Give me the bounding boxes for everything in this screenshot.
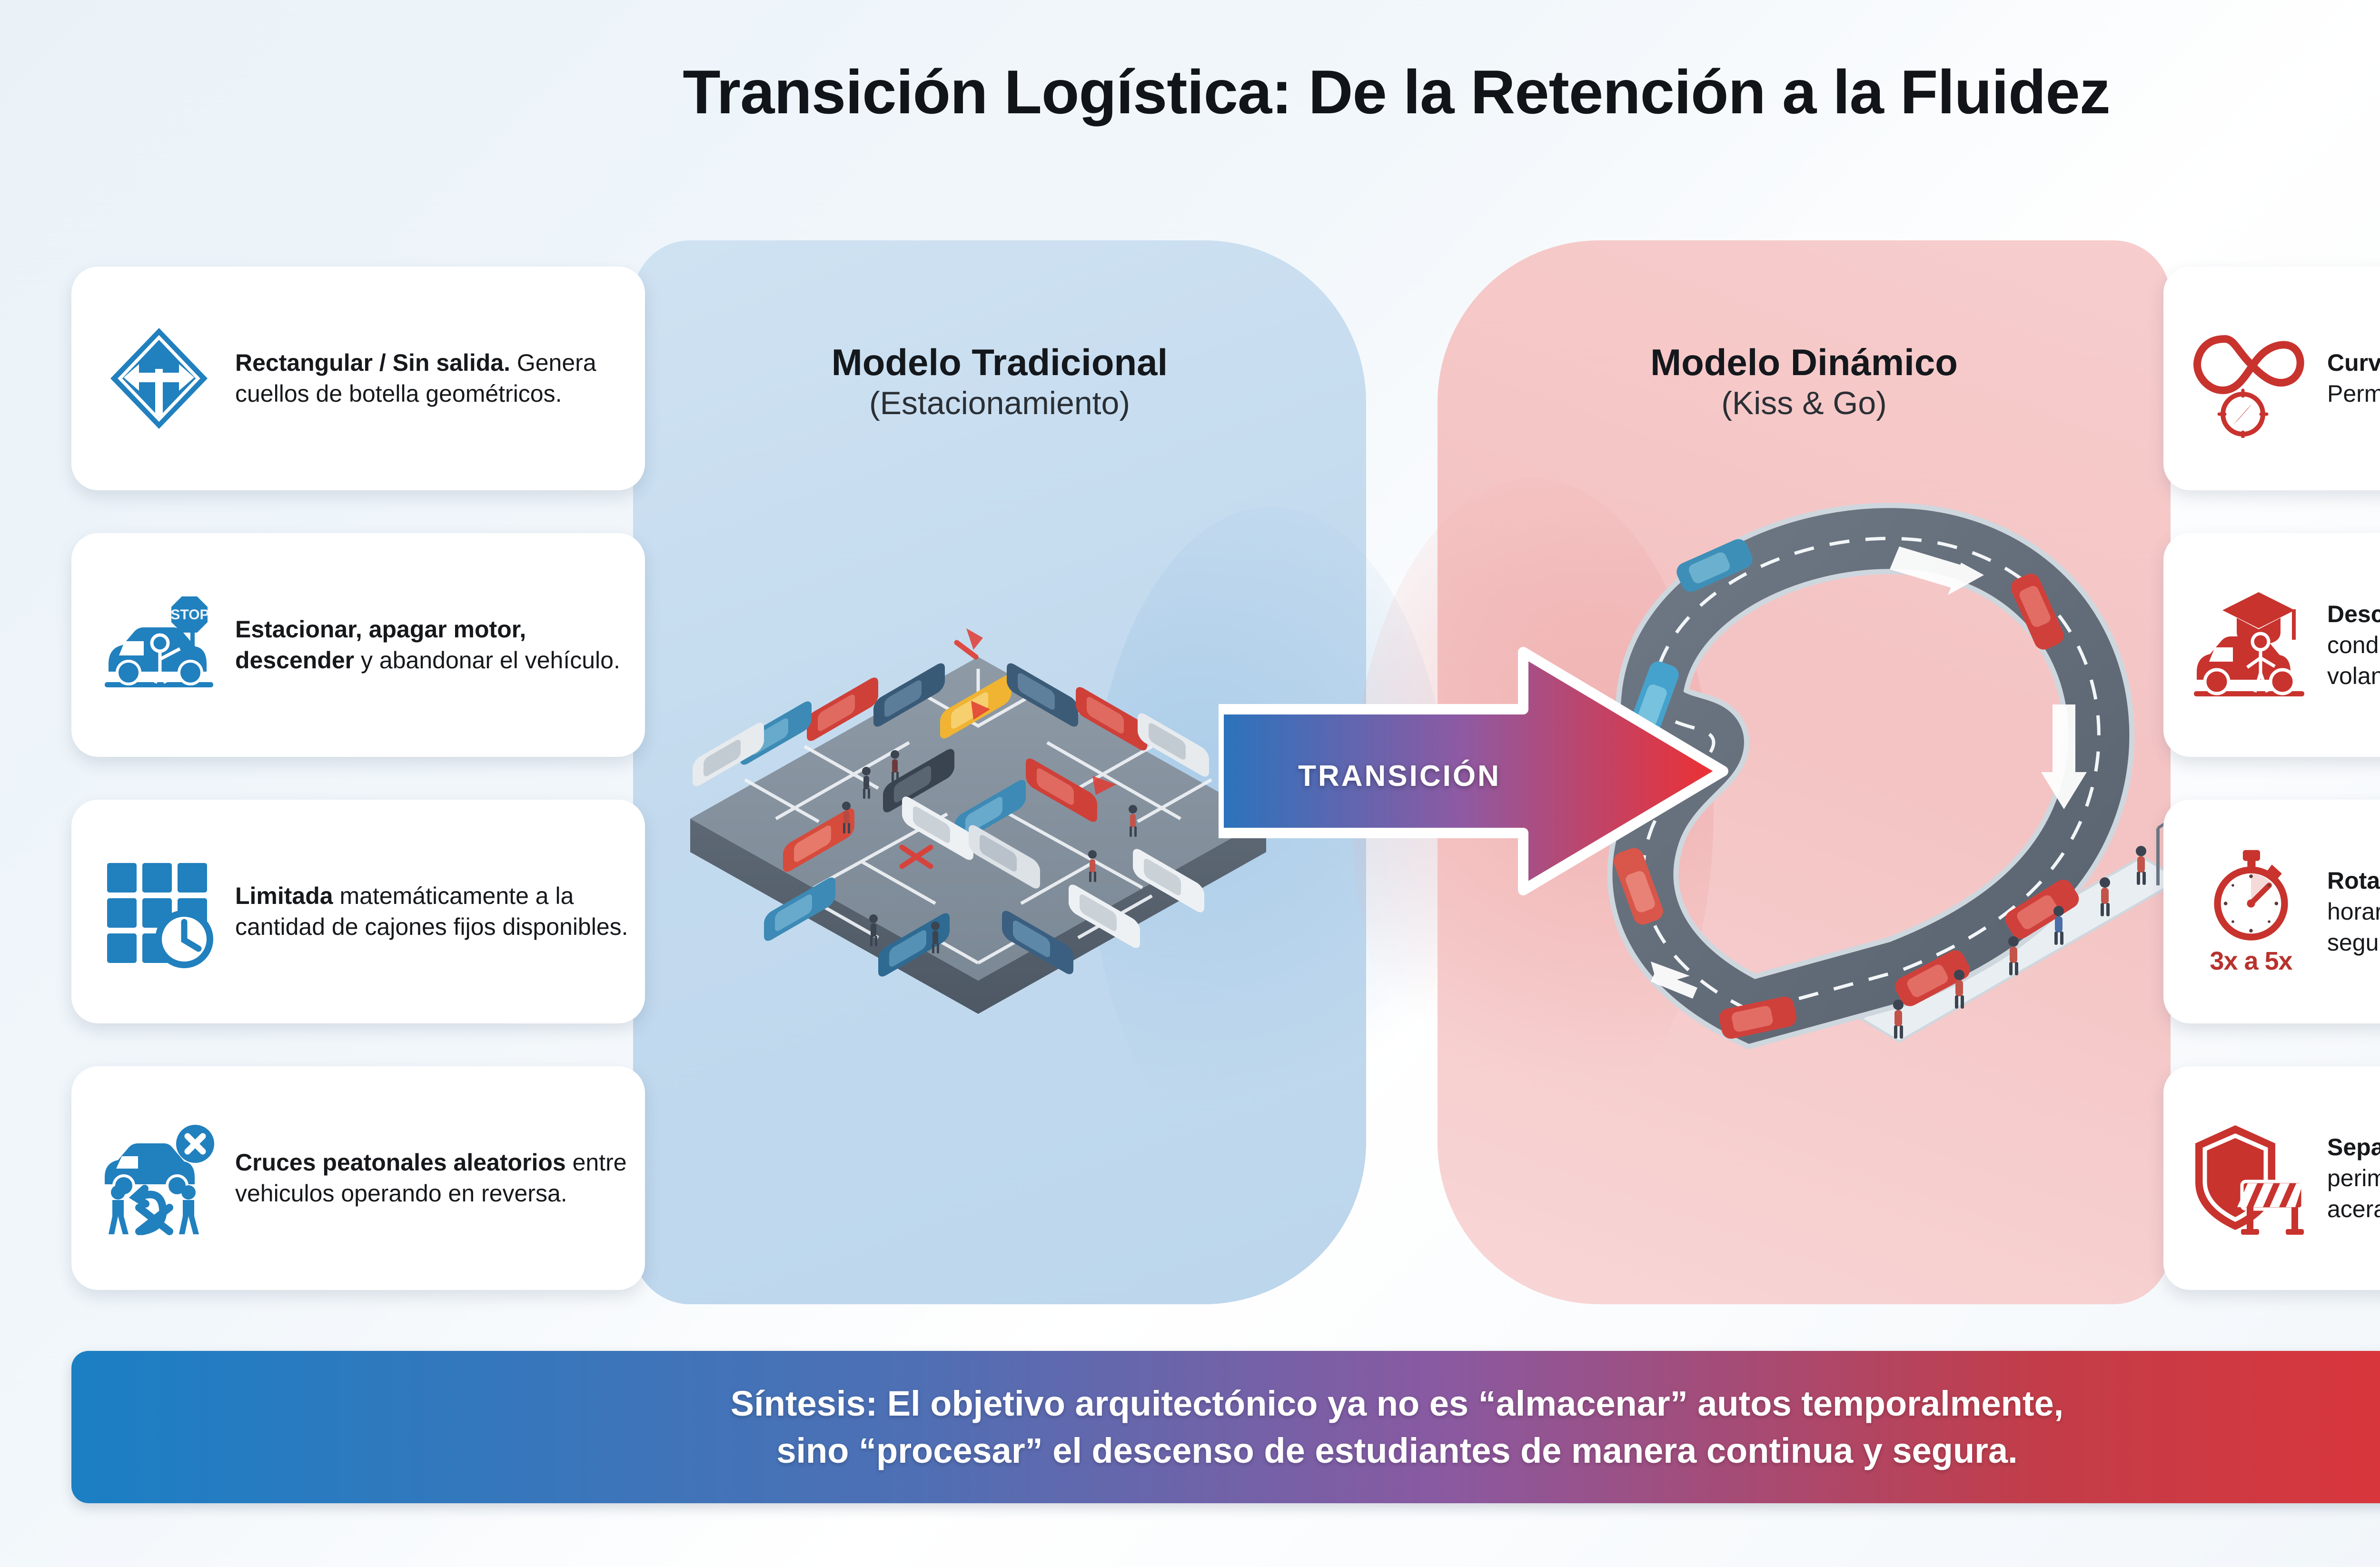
left-card-2: STOP Estacionar, apagar motor, descender…: [71, 533, 645, 757]
synthesis-text: Síntesis: El objetivo arquitectónico ya …: [702, 1380, 2092, 1474]
left-card-1-text: Rectangular / Sin salida. Genera cuellos…: [230, 347, 629, 409]
dynamic-model-title: Modelo Dinámico: [1438, 342, 2171, 383]
right-card-3-text: Rotación 3x a 5x mayor por franja horari…: [2322, 865, 2380, 958]
synthesis-line-1: Síntesis: El objetivo arquitectónico ya …: [731, 1384, 2063, 1423]
right-card-3-pre: Rotación 3x a 5x: [2327, 867, 2380, 894]
left-card-3: Limitada matemáticamente a la cantidad d…: [71, 800, 645, 1023]
fork-road-sign-icon: [88, 321, 230, 436]
left-card-3-text: Limitada matemáticamente a la cantidad d…: [230, 881, 629, 942]
left-card-4-text: Cruces peatonales aleatorios entre vehic…: [230, 1147, 629, 1209]
stopwatch-icon: 3x a 5x: [2180, 847, 2322, 976]
svg-text:STOP: STOP: [170, 607, 209, 623]
traditional-model-title: Modelo Tradicional: [633, 342, 1366, 383]
infinity-compass-icon: [2180, 319, 2322, 438]
right-card-1-text: Curva / Bucle de flujo continuo. Permite…: [2322, 347, 2380, 409]
left-card-2-rest: y abandonar el vehículo.: [354, 647, 620, 674]
synthesis-line-2: sino “procesar” el descenso de estudiant…: [776, 1431, 2017, 1470]
right-card-1-bold: Curva / Bucle de flujo continuo.: [2327, 349, 2380, 376]
right-card-2-text: Descenso dinámico asistido. El conductor…: [2322, 599, 2380, 692]
left-card-2-text: Estacionar, apagar motor, descender y ab…: [230, 614, 629, 676]
right-card-4: Separación total mediante barreras perim…: [2163, 1066, 2380, 1290]
left-card-1-bold: Rectangular / Sin salida.: [235, 349, 510, 376]
left-card-4: Cruces peatonales aleatorios entre vehic…: [71, 1066, 645, 1290]
page-title: Transición Logística: De la Retención a …: [0, 56, 2380, 128]
dynamic-model-heading: Modelo Dinámico (Kiss & Go): [1438, 342, 2171, 424]
right-card-1-rest: Permite un avance ininterrumpido.: [2327, 380, 2380, 407]
car-pedestrians-crossing-x-icon: [88, 1121, 230, 1235]
stopwatch-caption: 3x a 5x: [2210, 946, 2292, 976]
traditional-model-heading: Modelo Tradicional (Estacionamiento): [633, 342, 1366, 424]
right-card-2-bold: Descenso dinámico asistido.: [2327, 601, 2380, 627]
grid-clock-icon: [88, 854, 230, 969]
car-stop-sign-driver-exiting-icon: STOP: [88, 588, 230, 702]
traditional-model-subtitle: (Estacionamiento): [633, 383, 1366, 424]
left-card-3-bold: Limitada: [235, 883, 333, 909]
right-card-4-text: Separación total mediante barreras perim…: [2322, 1132, 2380, 1225]
right-card-2: Descenso dinámico asistido. El conductor…: [2163, 533, 2380, 757]
graduation-cap-car-student-icon: [2180, 585, 2322, 704]
shield-barrier-icon: [2180, 1119, 2322, 1238]
left-card-4-bold: Cruces peatonales aleatorios: [235, 1149, 566, 1176]
right-card-4-bold: Separación total: [2327, 1134, 2380, 1160]
isometric-parking-lot-illustration: [662, 486, 1295, 1119]
transition-label: TRANSICIÓN: [1257, 759, 1542, 793]
right-card-3: 3x a 5x Rotación 3x a 5x mayor por franj…: [2163, 800, 2380, 1023]
right-card-1: Curva / Bucle de flujo continuo. Permite…: [2163, 267, 2380, 490]
synthesis-banner: Síntesis: El objetivo arquitectónico ya …: [71, 1351, 2380, 1503]
left-card-1: Rectangular / Sin salida. Genera cuellos…: [71, 267, 645, 490]
dynamic-model-subtitle: (Kiss & Go): [1438, 383, 2171, 424]
